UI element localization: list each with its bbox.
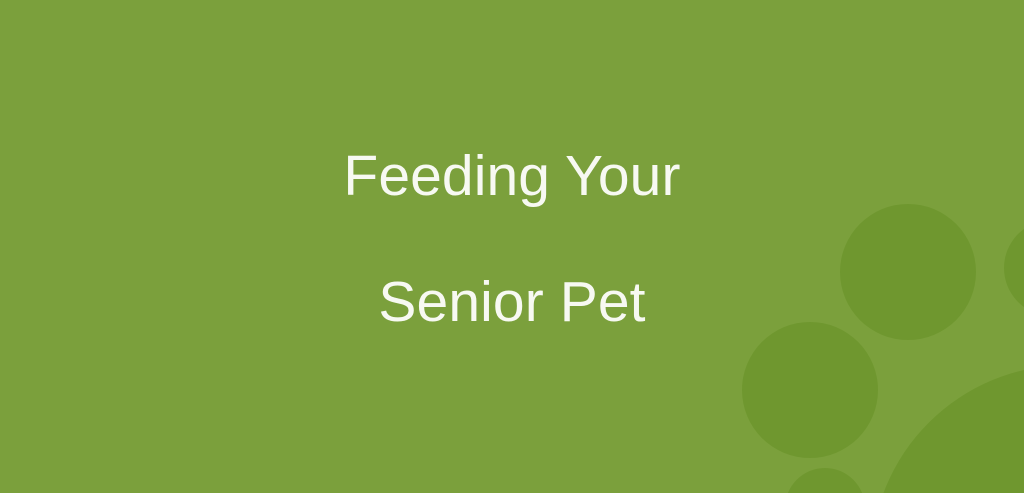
- page-title-line-1: Feeding Your: [343, 145, 680, 208]
- page-title: Feeding Your Senior Pet: [343, 82, 680, 397]
- page-title-line-2: Senior Pet: [343, 271, 680, 334]
- article-hero-banner: Feeding Your Senior Pet: [0, 0, 1024, 493]
- headline-container: Feeding Your Senior Pet: [0, 0, 1024, 493]
